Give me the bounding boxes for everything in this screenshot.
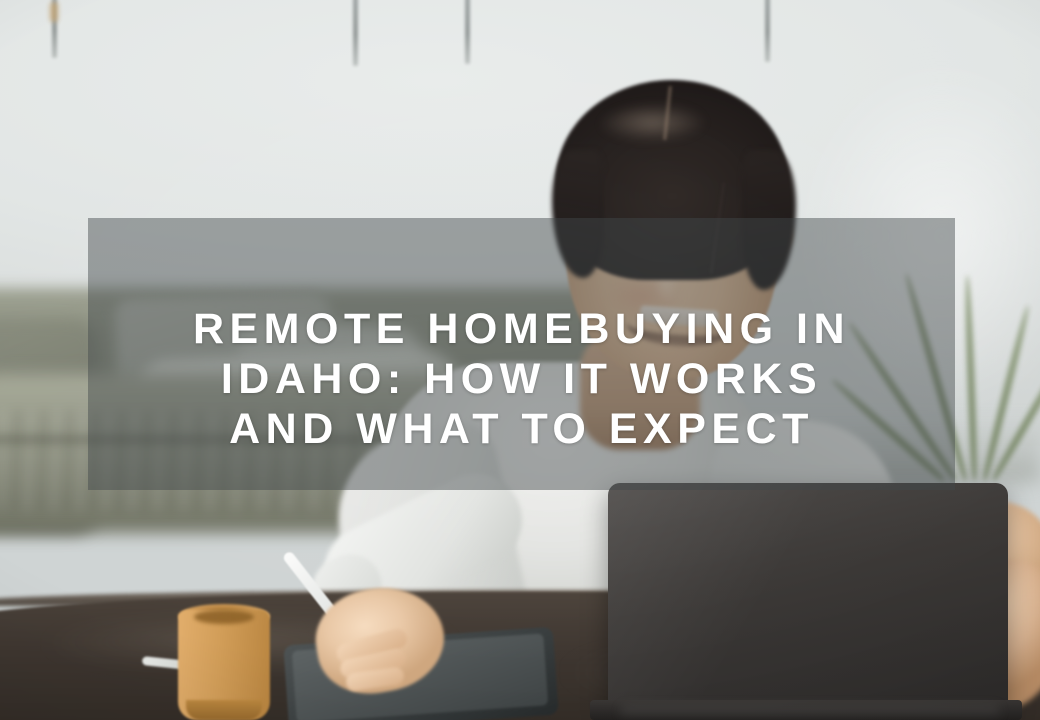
page-root: REMOTE HOMEBUYING IN IDAHO: HOW IT WORKS…: [0, 0, 1040, 720]
page-title-line-2: IDAHO: HOW IT WORKS: [221, 354, 822, 404]
hanging-rod-3-icon: [465, 0, 470, 64]
page-title: REMOTE HOMEBUYING IN IDAHO: HOW IT WORKS…: [88, 218, 955, 490]
mug-base: [186, 700, 262, 720]
mug-interior: [194, 610, 254, 624]
page-title-line-3: AND WHAT TO EXPECT: [229, 404, 814, 454]
laptop-reflection: [620, 706, 1000, 720]
hanging-rod-2-icon: [353, 0, 358, 66]
page-title-line-1: REMOTE HOMEBUYING IN: [193, 304, 850, 354]
laptop: [608, 483, 1008, 715]
hanging-rod-1-icon: [52, 0, 57, 58]
hanging-rod-4-icon: [765, 0, 770, 62]
